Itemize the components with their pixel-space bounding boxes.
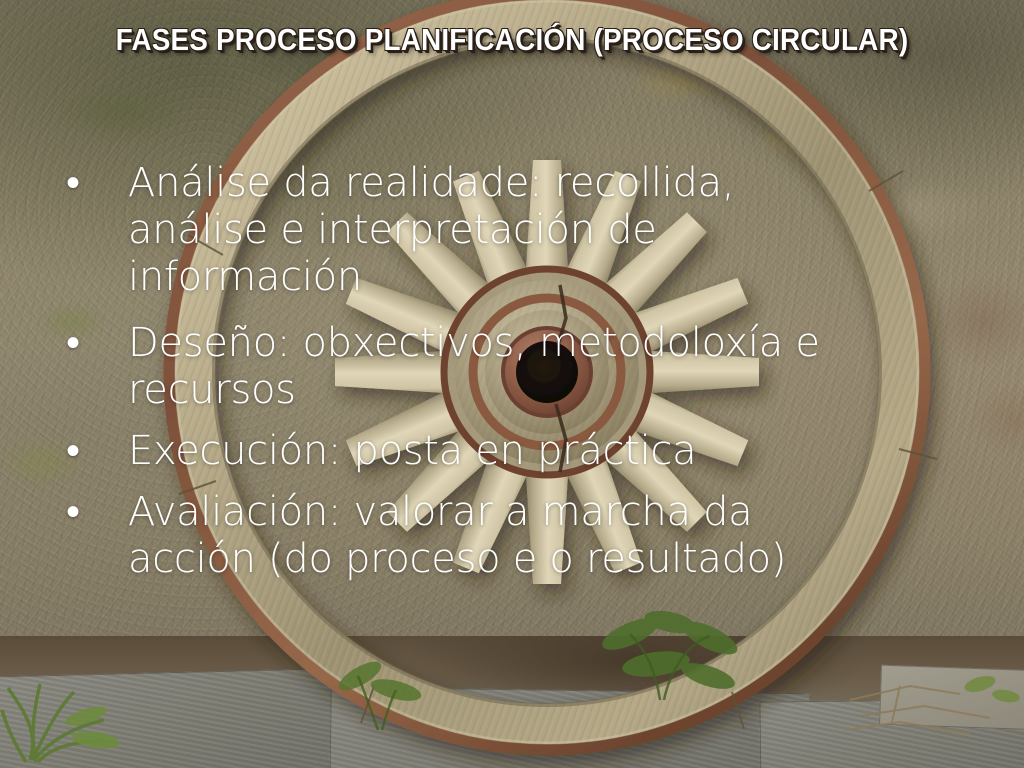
bullet-text: Deseño: obxectivos, metodoloxía e recurs… — [128, 320, 898, 414]
dry-twigs — [840, 660, 1024, 768]
bullet-text: Execución: posta en práctica — [128, 428, 958, 475]
bullet-list: • Análise da realidade: recollida, análi… — [58, 160, 958, 598]
bullet-dot-icon: • — [58, 428, 128, 475]
bullet-dot-icon: • — [58, 160, 128, 207]
list-item: • Deseño: obxectivos, metodoloxía e recu… — [58, 320, 958, 414]
weed-cluster — [300, 620, 500, 740]
bullet-text: Análise da realidade: recollida, análise… — [128, 160, 828, 302]
weed-cluster — [560, 580, 820, 710]
list-item: • Avaliación: valorar a marcha da acción… — [58, 489, 958, 583]
list-item: • Análise da realidade: recollida, análi… — [58, 160, 958, 302]
bullet-dot-icon: • — [58, 320, 128, 367]
bullet-text: Avaliación: valorar a marcha da acción (… — [128, 489, 868, 583]
bullet-dot-icon: • — [58, 489, 128, 536]
list-item: • Execución: posta en práctica — [58, 428, 958, 475]
page-title: FASES PROCESO PLANIFICACIÓN (PROCESO CIR… — [51, 22, 973, 58]
grass-tuft — [0, 640, 320, 768]
presentation-slide: FASES PROCESO PLANIFICACIÓN (PROCESO CIR… — [0, 0, 1024, 768]
